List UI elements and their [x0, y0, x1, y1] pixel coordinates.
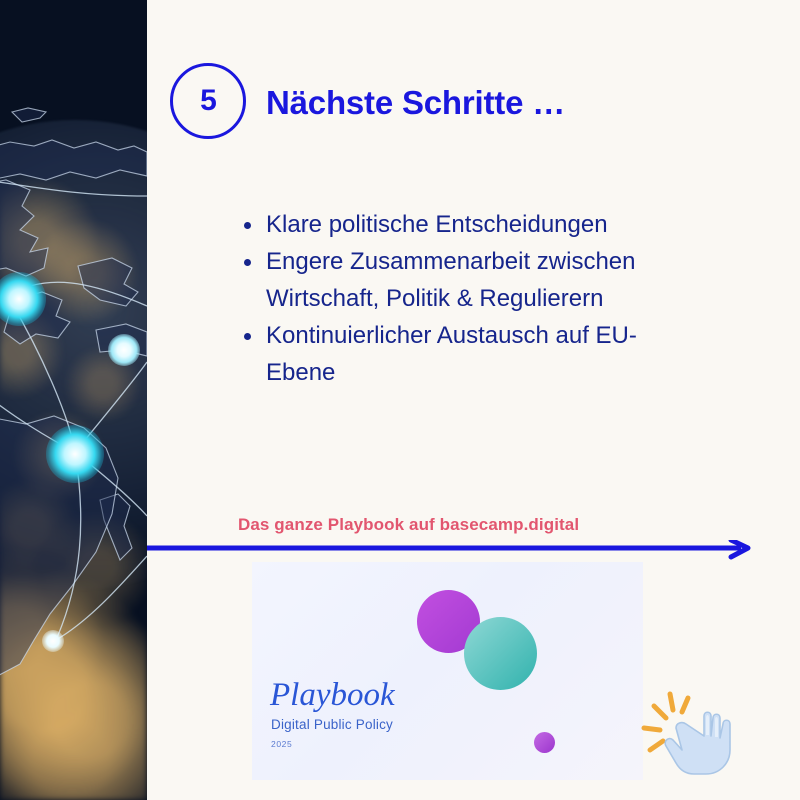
page-title: Nächste Schritte … [266, 84, 565, 122]
cover-blob-purple-tiny-left [534, 732, 555, 753]
network-node-north-africa [46, 425, 104, 483]
cover-subtitle: Digital Public Policy [271, 717, 393, 732]
network-node-central-europe [108, 334, 140, 366]
coastline-outlines [0, 0, 147, 800]
right-arrow-icon [147, 540, 757, 562]
list-item: Kontinuierlicher Austausch auf EU-Ebene [238, 317, 698, 391]
playbook-cover-thumbnail[interactable]: Playbook Digital Public Policy 2025 [252, 562, 643, 780]
cover-title: Playbook [270, 679, 395, 712]
slide-canvas: 5 Nächste Schritte … Klare politische En… [0, 0, 800, 800]
cover-year: 2025 [271, 739, 292, 749]
cover-blob-teal-medium-left [464, 617, 537, 690]
list-item: Klare politische Entscheidungen [238, 206, 698, 243]
network-node-southern-africa [42, 630, 64, 652]
step-number-badge: 5 [170, 63, 246, 139]
cta-caption: Das ganze Playbook auf basecamp.digital [238, 515, 579, 535]
night-earth-network-image [0, 0, 147, 800]
tapping-hand-icon [636, 688, 740, 778]
step-number: 5 [200, 86, 216, 116]
list-item: Engere Zusammenarbeit zwischen Wirtschaf… [238, 243, 698, 317]
next-steps-list: Klare politische Entscheidungen Engere Z… [238, 206, 698, 391]
